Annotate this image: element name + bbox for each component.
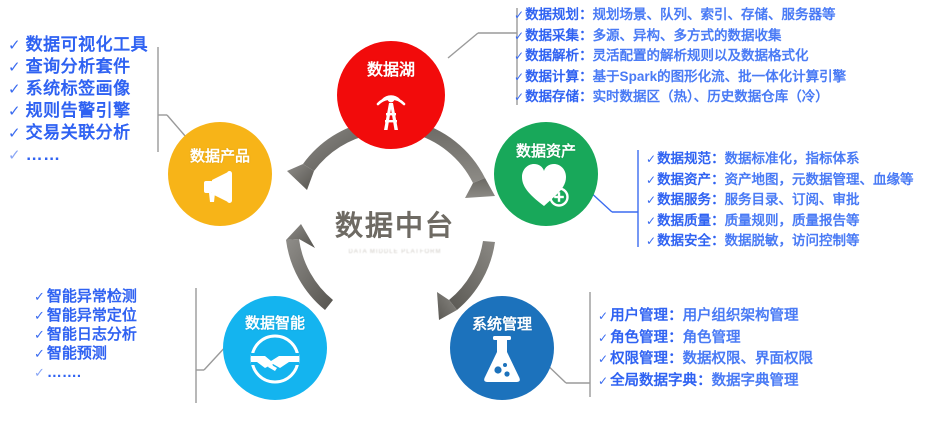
check-icon: ✓: [514, 9, 524, 21]
list-item-term: 权限管理: [610, 352, 668, 367]
check-icon: ✓: [8, 148, 21, 163]
list-item: ✓数据存储：实时数据区（热）、历史数据仓库（冷）: [514, 90, 846, 104]
list-system-manage-features: ✓用户管理：用户组织架构管理✓角色管理：角色管理✓权限管理：数据权限、界面权限✓…: [598, 309, 813, 395]
check-icon: ✓: [514, 30, 524, 42]
list-item-term: …….: [47, 365, 81, 380]
list-item-term: 规则告警引擎: [26, 102, 131, 119]
check-icon: ✓: [8, 82, 21, 97]
list-item: ✓查询分析套件: [8, 58, 148, 75]
check-icon: ✓: [34, 347, 45, 360]
list-item: ✓数据规范：数据标准化，指标体系: [646, 152, 914, 166]
diagram-canvas: 数据中台 DATA MIDDLE PLATFORM 数据产品 数据湖: [0, 0, 931, 428]
list-item-term: ……: [26, 146, 61, 163]
list-item-description: 服务目录、订阅、审批: [725, 193, 860, 207]
list-item-term: 数据可视化工具: [26, 36, 149, 53]
list-item-description: 实时数据区（热）、历史数据仓库（冷）: [593, 90, 829, 104]
megaphone-icon: [198, 170, 242, 204]
node-label: 数据资产: [516, 140, 576, 161]
list-item-separator: ：: [697, 374, 712, 389]
check-icon: ✓: [646, 194, 656, 206]
list-item-separator: ：: [579, 8, 593, 22]
list-item-description: 数据标准化，指标体系: [725, 152, 860, 166]
node-data-asset[interactable]: 数据资产: [494, 122, 598, 226]
center-subtitle: DATA MIDDLE PLATFORM: [300, 249, 490, 255]
node-label: 数据产品: [190, 145, 250, 166]
check-icon: ✓: [8, 126, 21, 141]
list-item-separator: ：: [579, 70, 593, 84]
ring-arrow-4: [355, 314, 431, 333]
check-icon: ✓: [598, 353, 608, 365]
list-item-term: 交易关联分析: [26, 124, 131, 141]
list-item-description: 多源、异构、多方式的数据收集: [593, 29, 782, 43]
check-icon: ✓: [8, 104, 21, 119]
broadcast-tower-icon: [365, 82, 417, 134]
list-item-term: 数据规划: [525, 8, 579, 22]
list-item: ✓用户管理：用户组织架构管理: [598, 309, 813, 324]
check-icon: ✓: [646, 215, 656, 227]
list-item-term: 数据安全: [657, 234, 711, 248]
list-item-term: 数据存储: [525, 90, 579, 104]
list-item-term: 角色管理: [610, 331, 668, 346]
list-item: ✓规则告警引擎: [8, 102, 148, 119]
list-data-product-features: ✓数据可视化工具✓查询分析套件✓系统标签画像✓规则告警引擎✓交易关联分析✓……: [8, 36, 148, 168]
list-item-term: 数据服务: [657, 193, 711, 207]
list-item-term: 智能异常定位: [47, 308, 137, 323]
list-item-separator: ：: [668, 331, 683, 346]
flask-icon: [481, 335, 523, 383]
list-item: ✓系统标签画像: [8, 80, 148, 97]
check-icon: ✓: [598, 375, 608, 387]
list-item-description: 用户组织架构管理: [683, 309, 799, 324]
list-item-term: 数据解析: [525, 49, 579, 63]
list-item-term: 数据资产: [657, 173, 711, 187]
list-item-description: 灵活配置的解析规则以及数据格式化: [593, 49, 809, 63]
list-item: ✓智能异常定位: [34, 308, 137, 323]
list-item-separator: ：: [579, 90, 593, 104]
list-item: ✓数据可视化工具: [8, 36, 148, 53]
list-item-term: 全局数据字典: [610, 374, 697, 389]
list-item-term: 智能预测: [47, 346, 107, 361]
center-title: 数据中台: [300, 204, 490, 244]
list-data-asset-features: ✓数据规范：数据标准化，指标体系✓数据资产：资产地图，元数据管理、血缘等✓数据服…: [646, 152, 914, 255]
list-item-description: 规划场景、队列、索引、存储、服务器等: [593, 8, 836, 22]
list-item-term: 用户管理: [610, 309, 668, 324]
list-item-description: 数据权限、界面权限: [683, 352, 814, 367]
check-icon: ✓: [646, 174, 656, 186]
list-item: ✓数据规划：规划场景、队列、索引、存储、服务器等: [514, 8, 846, 22]
check-icon: ✓: [34, 309, 45, 322]
check-icon: ✓: [8, 60, 21, 75]
check-icon: ✓: [34, 328, 45, 341]
list-item-separator: ：: [711, 193, 725, 207]
node-data-product[interactable]: 数据产品: [168, 122, 272, 226]
handshake-icon: [249, 334, 301, 384]
list-item: ✓权限管理：数据权限、界面权限: [598, 352, 813, 367]
list-item-term: 系统标签画像: [26, 80, 131, 97]
list-item-description: 数据脱敏，访问控制等: [725, 234, 860, 248]
list-item-term: 智能日志分析: [47, 327, 137, 342]
node-label: 数据湖: [367, 56, 415, 80]
list-item: ✓智能预测: [34, 346, 137, 361]
check-icon: ✓: [34, 366, 45, 379]
list-item-description: 角色管理: [683, 331, 741, 346]
list-item: ✓智能异常检测: [34, 289, 137, 304]
list-item-term: 数据规范: [657, 152, 711, 166]
list-item: ✓智能日志分析: [34, 327, 137, 342]
node-data-intelligence[interactable]: 数据智能: [223, 296, 327, 400]
list-item-separator: ：: [668, 309, 683, 324]
list-item: ✓数据安全：数据脱敏，访问控制等: [646, 234, 914, 248]
list-item: ✓数据解析：灵活配置的解析规则以及数据格式化: [514, 49, 846, 63]
list-item: ✓……: [8, 146, 148, 163]
list-item-term: 智能异常检测: [47, 289, 137, 304]
list-item-description: 质量规则，质量报告等: [725, 214, 860, 228]
check-icon: ✓: [8, 38, 21, 53]
node-label: 数据智能: [245, 312, 305, 333]
list-item-term: 数据采集: [525, 29, 579, 43]
list-item-separator: ：: [711, 234, 725, 248]
list-item-separator: ：: [711, 173, 725, 187]
list-item-separator: ：: [668, 352, 683, 367]
heart-plus-icon: [520, 162, 572, 208]
check-icon: ✓: [514, 91, 524, 103]
list-item: ✓全局数据字典：数据字典管理: [598, 374, 813, 389]
center-label-block: 数据中台 DATA MIDDLE PLATFORM: [300, 204, 490, 255]
check-icon: ✓: [34, 290, 45, 303]
list-item-term: 数据计算: [525, 70, 579, 84]
check-icon: ✓: [646, 235, 656, 247]
list-data-intelligence-features: ✓智能异常检测✓智能异常定位✓智能日志分析✓智能预测✓…….: [34, 289, 137, 384]
list-item-description: 数据字典管理: [712, 374, 799, 389]
list-item: ✓数据采集：多源、异构、多方式的数据收集: [514, 29, 846, 43]
list-item-description: 资产地图，元数据管理、血缘等: [725, 173, 914, 187]
check-icon: ✓: [598, 332, 608, 344]
list-data-lake-features: ✓数据规划：规划场景、队列、索引、存储、服务器等✓数据采集：多源、异构、多方式的…: [514, 8, 846, 111]
check-icon: ✓: [646, 153, 656, 165]
list-item: ✓角色管理：角色管理: [598, 331, 813, 346]
node-system-manage[interactable]: 系统管理: [450, 296, 554, 400]
list-item-term: 查询分析套件: [26, 58, 131, 75]
list-item: ✓…….: [34, 365, 137, 380]
list-item: ✓数据计算：基于Spark的图形化流、批一体化计算引擎: [514, 70, 846, 84]
list-item: ✓数据资产：资产地图，元数据管理、血缘等: [646, 173, 914, 187]
list-item: ✓数据服务：服务目录、订阅、审批: [646, 193, 914, 207]
list-item: ✓数据质量：质量规则，质量报告等: [646, 214, 914, 228]
list-item-separator: ：: [711, 152, 725, 166]
list-item-separator: ：: [711, 214, 725, 228]
node-label: 系统管理: [472, 313, 532, 334]
list-item-term: 数据质量: [657, 214, 711, 228]
list-item: ✓交易关联分析: [8, 124, 148, 141]
node-data-lake[interactable]: 数据湖: [337, 41, 445, 149]
list-item-separator: ：: [579, 49, 593, 63]
list-item-separator: ：: [579, 29, 593, 43]
check-icon: ✓: [514, 50, 524, 62]
list-item-description: 基于Spark的图形化流、批一体化计算引擎: [593, 70, 847, 84]
check-icon: ✓: [598, 310, 608, 322]
check-icon: ✓: [514, 71, 524, 83]
